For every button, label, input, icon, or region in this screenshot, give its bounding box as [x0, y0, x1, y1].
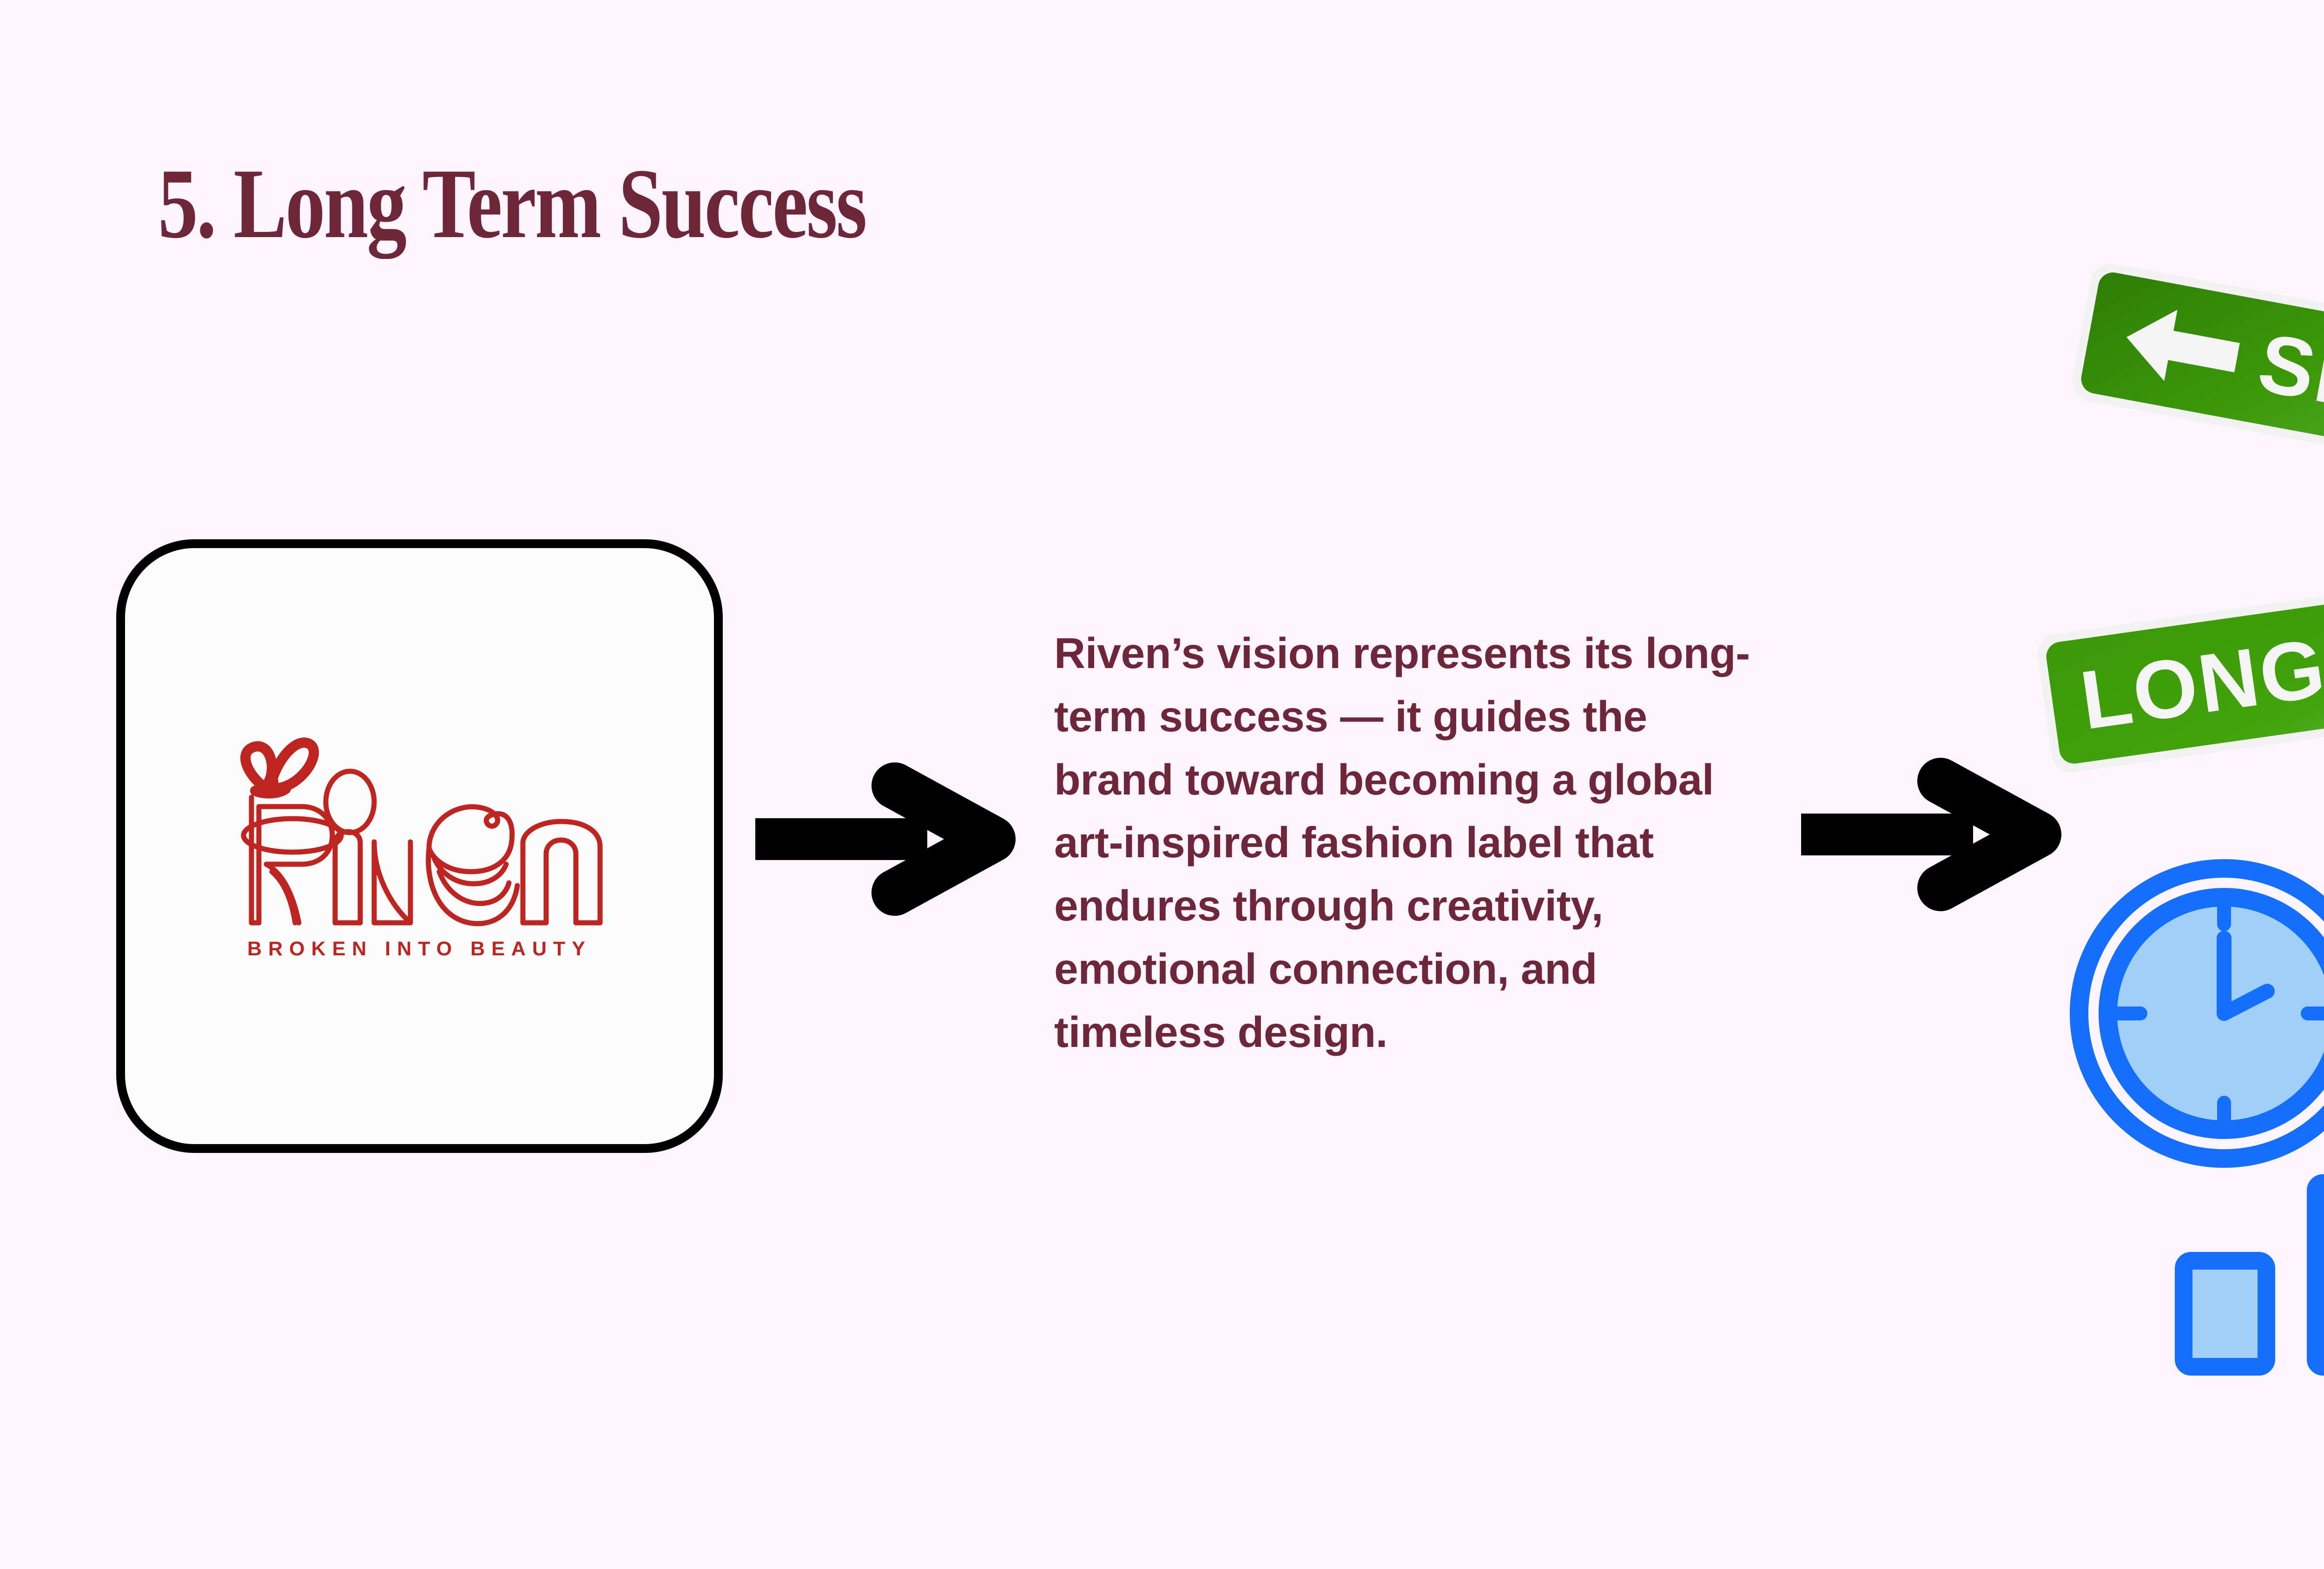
road-signs-illustration: SHORT TERM LONG TERM: [2068, 242, 2324, 762]
growth-chart-illustration: [2068, 818, 2324, 1381]
bar-1: [2184, 1261, 2266, 1367]
flow-arrow-right-icon: [755, 767, 1009, 911]
bar-2: [2316, 1183, 2324, 1367]
flow-arrow-right-icon-2: [1801, 762, 2054, 907]
riven-wordmark-icon: [211, 732, 629, 932]
body-paragraph: Riven’s vision represents its long-term …: [1054, 622, 1761, 1064]
page-title: 5. Long Term Success: [158, 153, 865, 253]
sign-short-term: SHORT TERM: [2069, 260, 2324, 534]
brand-logo-card: BROKEN INTO BEAUTY: [116, 539, 723, 1153]
sign-long-term: LONG TERM: [2035, 545, 2324, 775]
brand-tagline: BROKEN INTO BEAUTY: [247, 938, 592, 960]
clock-icon: [2079, 868, 2324, 1159]
slide-canvas: 5. Long Term Success: [0, 0, 2324, 1569]
brand-logo: BROKEN INTO BEAUTY: [192, 716, 647, 976]
